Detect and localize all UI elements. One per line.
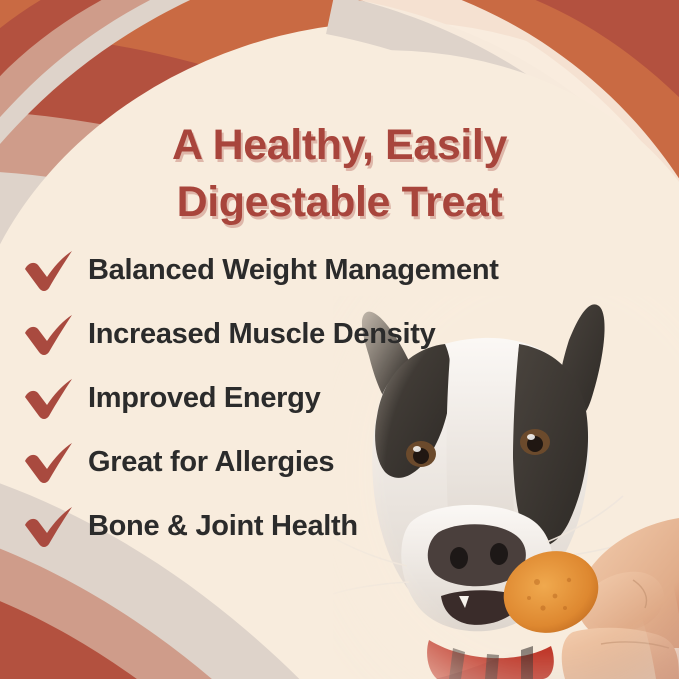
list-item: Balanced Weight Management xyxy=(0,238,679,302)
list-item: Increased Muscle Density xyxy=(0,302,679,366)
list-item: Improved Energy xyxy=(0,366,679,430)
poster: A Healthy, Easily Digestable Treat Balan… xyxy=(0,0,679,679)
list-item-label: Bone & Joint Health xyxy=(88,510,358,543)
check-icon xyxy=(22,439,74,485)
check-icon xyxy=(22,503,74,549)
list-item: Great for Allergies xyxy=(0,430,679,494)
check-icon xyxy=(22,375,74,421)
list-item-label: Improved Energy xyxy=(88,382,320,415)
check-icon xyxy=(22,247,74,293)
check-icon xyxy=(22,311,74,357)
benefits-list: Balanced Weight Management Increased Mus… xyxy=(0,238,679,558)
list-item: Bone & Joint Health xyxy=(0,494,679,558)
list-item-label: Increased Muscle Density xyxy=(88,318,435,351)
list-item-label: Balanced Weight Management xyxy=(88,254,499,287)
list-item-label: Great for Allergies xyxy=(88,446,334,479)
